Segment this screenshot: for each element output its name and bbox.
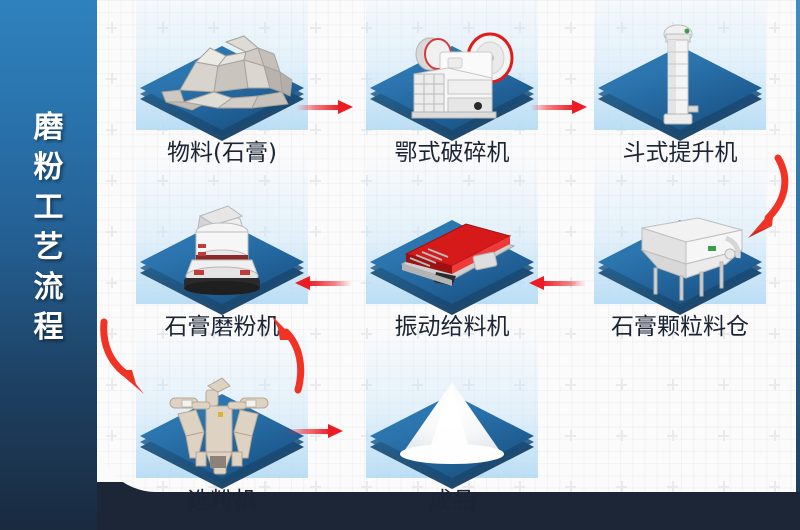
- grid-plus-mark: [718, 379, 729, 390]
- vibrating-feeder-icon: [352, 192, 552, 312]
- grid-plus-mark: [616, 379, 627, 390]
- grid-plus-mark: [718, 430, 729, 441]
- step-label: 选粉机: [122, 486, 322, 516]
- process-flow-infographic: 物料(石膏) 鄂式破碎机: [0, 0, 800, 530]
- flow-arrow-c3: [738, 152, 794, 252]
- sidebar-title-char: 粉: [34, 148, 64, 188]
- sidebar-title-char: 磨: [34, 108, 64, 148]
- grid-plus-mark: [616, 430, 627, 441]
- step-platform: [352, 366, 552, 486]
- grid-plus-mark: [106, 277, 117, 288]
- jaw-crusher-icon: [352, 18, 552, 138]
- sidebar: 磨粉工艺流程: [0, 0, 97, 530]
- grid-plus-mark: [616, 481, 627, 492]
- grid-plus-mark: [769, 379, 780, 390]
- grid-plus-mark: [106, 481, 117, 492]
- flow-arrow-c7: [268, 312, 322, 398]
- process-step-bucket-elevator[interactable]: 斗式提升机: [580, 18, 780, 173]
- step-platform: [122, 192, 322, 312]
- grid-plus-mark: [565, 73, 576, 84]
- flow-arrow-c1: [296, 100, 354, 114]
- step-platform: [352, 18, 552, 138]
- step-label: 石膏颗粒料仓: [580, 312, 780, 342]
- grid-plus-mark: [565, 226, 576, 237]
- grid-plus-mark: [106, 22, 117, 33]
- step-platform: [122, 18, 322, 138]
- grid-plus-mark: [667, 379, 678, 390]
- flow-arrow-c5: [294, 276, 352, 290]
- process-step-raw-material[interactable]: 物料(石膏): [122, 18, 322, 173]
- powder-pile-icon: [352, 366, 552, 486]
- grid-plus-mark: [106, 175, 117, 186]
- grid-plus-mark: [565, 175, 576, 186]
- grid-plus-mark: [565, 430, 576, 441]
- grid-plus-mark: [718, 481, 729, 492]
- step-platform: [580, 18, 780, 138]
- grid-plus-mark: [310, 175, 321, 186]
- sidebar-title-char: 工: [34, 188, 64, 228]
- grid-plus-mark: [565, 481, 576, 492]
- grid-plus-mark: [565, 328, 576, 339]
- sidebar-title: 磨粉工艺流程: [0, 108, 97, 348]
- flow-arrow-c4: [528, 276, 586, 290]
- grid-plus-mark: [106, 124, 117, 135]
- grid-plus-mark: [667, 430, 678, 441]
- bucket-elevator-icon: [580, 18, 780, 138]
- sidebar-title-char: 流: [34, 268, 64, 308]
- step-label: 成品: [352, 486, 552, 516]
- grid-plus-mark: [769, 430, 780, 441]
- grid-plus-mark: [565, 22, 576, 33]
- grid-plus-mark: [565, 124, 576, 135]
- flow-arrow-c6: [96, 318, 158, 408]
- sidebar-title-char: 程: [34, 308, 64, 348]
- flow-arrow-c8: [286, 424, 344, 438]
- raymond-mill-icon: [122, 192, 322, 312]
- grid-plus-mark: [106, 73, 117, 84]
- rock-pile-icon: [122, 18, 322, 138]
- right-edge-strip: [796, 0, 800, 492]
- flow-arrow-c2: [530, 100, 588, 114]
- process-step-jaw-crusher[interactable]: 鄂式破碎机: [352, 18, 552, 173]
- process-step-finished-product[interactable]: 成品: [352, 366, 552, 521]
- grid-plus-mark: [565, 379, 576, 390]
- grid-plus-mark: [769, 481, 780, 492]
- step-platform: [352, 192, 552, 312]
- process-step-vibrating-feeder[interactable]: 振动给料机: [352, 192, 552, 347]
- sidebar-title-char: 艺: [34, 228, 64, 268]
- grid-plus-mark: [106, 430, 117, 441]
- grid-plus-mark: [667, 481, 678, 492]
- grid-plus-mark: [106, 226, 117, 237]
